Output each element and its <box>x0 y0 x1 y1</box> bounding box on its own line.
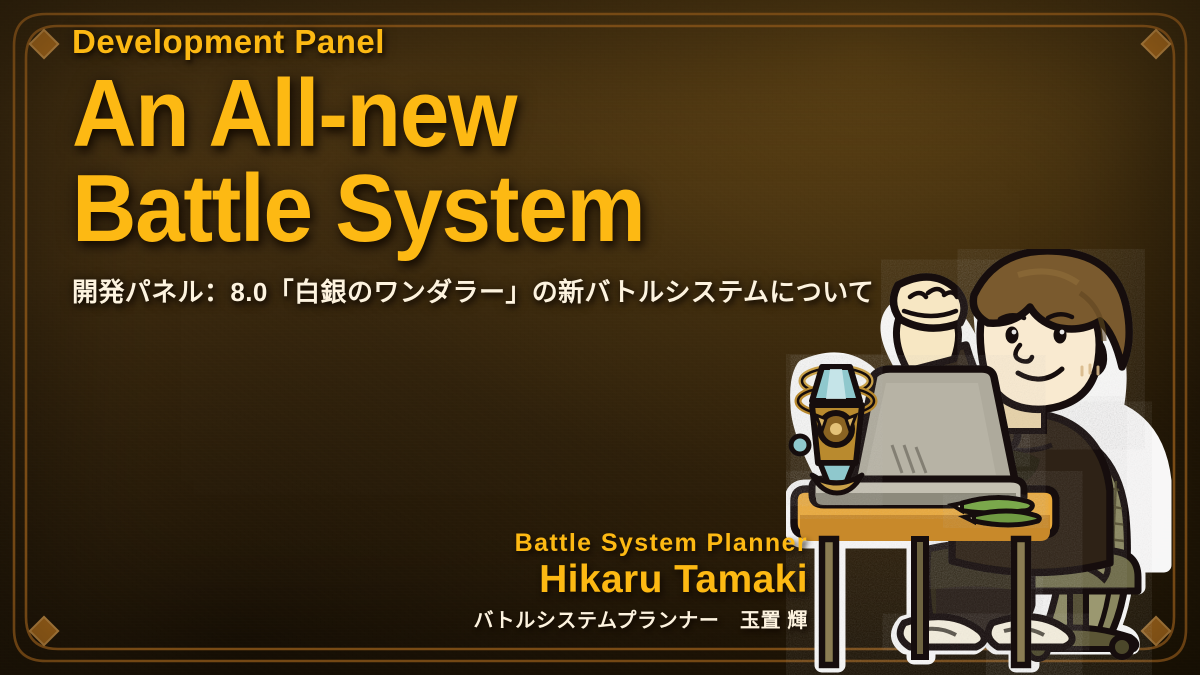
title-line-1: An All-new <box>72 60 516 167</box>
eyebrow-label: Development Panel <box>72 24 874 60</box>
subtitle-japanese: 開発パネル：8.0「白銀のワンダラー」の新バトルシステムについて <box>72 272 874 309</box>
presenter-credit: Battle System Planner Hikaru Tamaki バトルシ… <box>473 529 808 633</box>
presenter-role: Battle System Planner <box>473 529 808 558</box>
presenter-name-japanese: バトルシステムプランナー 玉置 輝 <box>473 604 808 633</box>
title-line-2: Battle System <box>72 155 644 262</box>
presenter-name: Hikaru Tamaki <box>473 558 808 602</box>
presentation-slide: Development Panel An All-newBattle Syste… <box>0 0 1200 675</box>
page-title: An All-newBattle System <box>72 66 818 256</box>
person-at-desk-illustration <box>786 249 1200 675</box>
title-block: Development Panel An All-newBattle Syste… <box>72 24 874 309</box>
